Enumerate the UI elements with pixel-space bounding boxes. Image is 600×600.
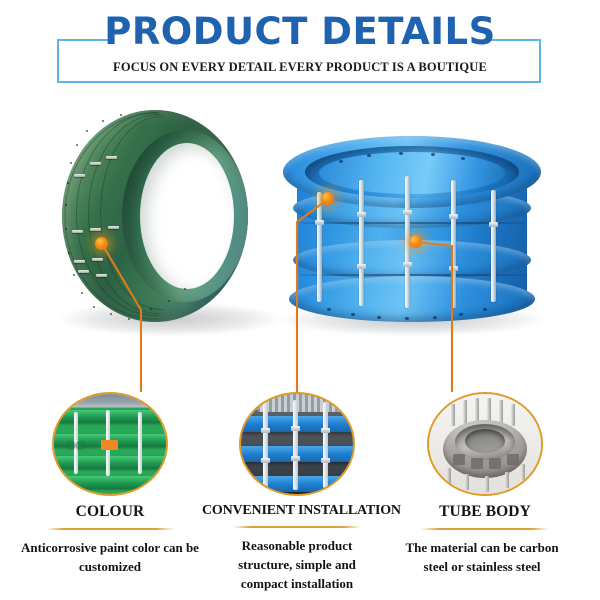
blue-joint-nut — [315, 220, 324, 225]
hotspot-colour-marker[interactable] — [95, 237, 108, 250]
green-ring-bolt — [96, 274, 107, 277]
hero-products — [0, 96, 600, 396]
green-ring-flange-hole — [102, 120, 104, 122]
thumb-steel-body[interactable] — [427, 392, 543, 496]
green-ring-bolt — [78, 270, 89, 273]
green-ring-flange-hole — [70, 162, 72, 164]
card-divider — [46, 528, 174, 530]
green-ring-bolt — [74, 174, 85, 177]
green-ring-bolt — [108, 226, 119, 229]
blue-joint-bolt-hole — [399, 152, 403, 155]
blue-joint-nut — [403, 210, 412, 215]
card-divider — [421, 528, 549, 530]
blue-joint-bolt-hole — [327, 308, 331, 311]
blue-joint-bolt-hole — [461, 157, 465, 160]
thumb-blue-joints[interactable] — [239, 392, 355, 496]
thumb-green-joints[interactable]: OO — [52, 392, 168, 496]
blue-joint-tie-rod — [451, 180, 456, 308]
blue-joint-bolt-hole — [431, 153, 435, 156]
green-ring-bolt — [72, 230, 83, 233]
product-details-infographic: PRODUCT DETAILS FOCUS ON EVERY DETAIL EV… — [0, 0, 600, 600]
blue-joint-nut — [449, 266, 458, 271]
blue-joint-nut — [357, 212, 366, 217]
green-ring-bolt — [90, 228, 101, 231]
blue-joint-bottom-flange — [289, 276, 535, 322]
card-tube-body[interactable]: TUBE BODY The material can be carbon ste… — [390, 388, 580, 576]
blue-joint-bolt-hole — [351, 313, 355, 316]
card-title-colour: COLOUR — [15, 503, 205, 521]
green-ring-bolt — [74, 260, 85, 263]
card-title-installation: CONVENIENT INSTALLATION — [202, 503, 392, 519]
blue-joint-nut — [489, 222, 498, 227]
blue-joint-tie-rod — [359, 180, 364, 306]
blue-joint-tie-rod — [317, 192, 322, 302]
blue-joint-nut — [403, 262, 412, 267]
blue-joint-nut — [357, 264, 366, 269]
blue-joint-bolt-hole — [433, 316, 437, 319]
blue-flanged-expansion-joint-image — [283, 136, 541, 326]
blue-joint-bolt-hole — [367, 154, 371, 157]
blue-joint-bolt-hole — [483, 308, 487, 311]
blue-joint-nut — [449, 214, 458, 219]
blue-joint-bolt-hole — [405, 317, 409, 320]
header: PRODUCT DETAILS FOCUS ON EVERY DETAIL EV… — [0, 0, 600, 100]
thumb-green-joints-photo: OO — [54, 394, 166, 494]
card-divider — [233, 526, 361, 528]
green-ring-bolt — [92, 258, 103, 261]
green-ring-bolt — [106, 156, 117, 159]
green-ring-bolt — [90, 162, 101, 165]
green-flanged-expansion-joint-image — [62, 110, 274, 322]
green-ring-flange-hole — [81, 292, 83, 294]
thumb-blue-joints-photo — [241, 394, 353, 494]
card-convenient-installation[interactable]: CONVENIENT INSTALLATION Reasonable produ… — [202, 388, 392, 593]
page-subtitle: FOCUS ON EVERY DETAIL EVERY PRODUCT IS A… — [0, 60, 600, 75]
card-colour[interactable]: OO COLOUR Anticorrosive paint color can … — [15, 388, 205, 576]
green-ring-flange-hole — [128, 318, 130, 320]
green-ring-flange-hole — [93, 306, 95, 308]
blue-joint-top-bore — [319, 152, 505, 194]
green-ring-flange-hole — [110, 313, 112, 315]
green-ring-flange-hole — [86, 130, 88, 132]
card-title-tube-body: TUBE BODY — [390, 503, 580, 521]
hotspot-installation-marker[interactable] — [321, 192, 334, 205]
green-ring-flange-hole — [76, 144, 78, 146]
blue-joint-tie-rod — [491, 190, 496, 302]
hotspot-tube-body-marker[interactable] — [409, 235, 422, 248]
blue-joint-bolt-hole — [339, 160, 343, 163]
blue-joint-bolt-hole — [377, 316, 381, 319]
blue-joint-bolt-hole — [459, 313, 463, 316]
page-title: PRODUCT DETAILS — [0, 12, 600, 52]
card-desc-installation: Reasonable product structure, simple and… — [217, 536, 377, 593]
card-desc-tube-body: The material can be carbon steel or stai… — [402, 538, 562, 576]
card-desc-colour: Anticorrosive paint color can be customi… — [17, 538, 203, 576]
feature-cards: OO COLOUR Anticorrosive paint color can … — [0, 388, 600, 600]
green-ring-flange-hole — [73, 274, 75, 276]
thumb-steel-body-photo — [429, 394, 541, 494]
